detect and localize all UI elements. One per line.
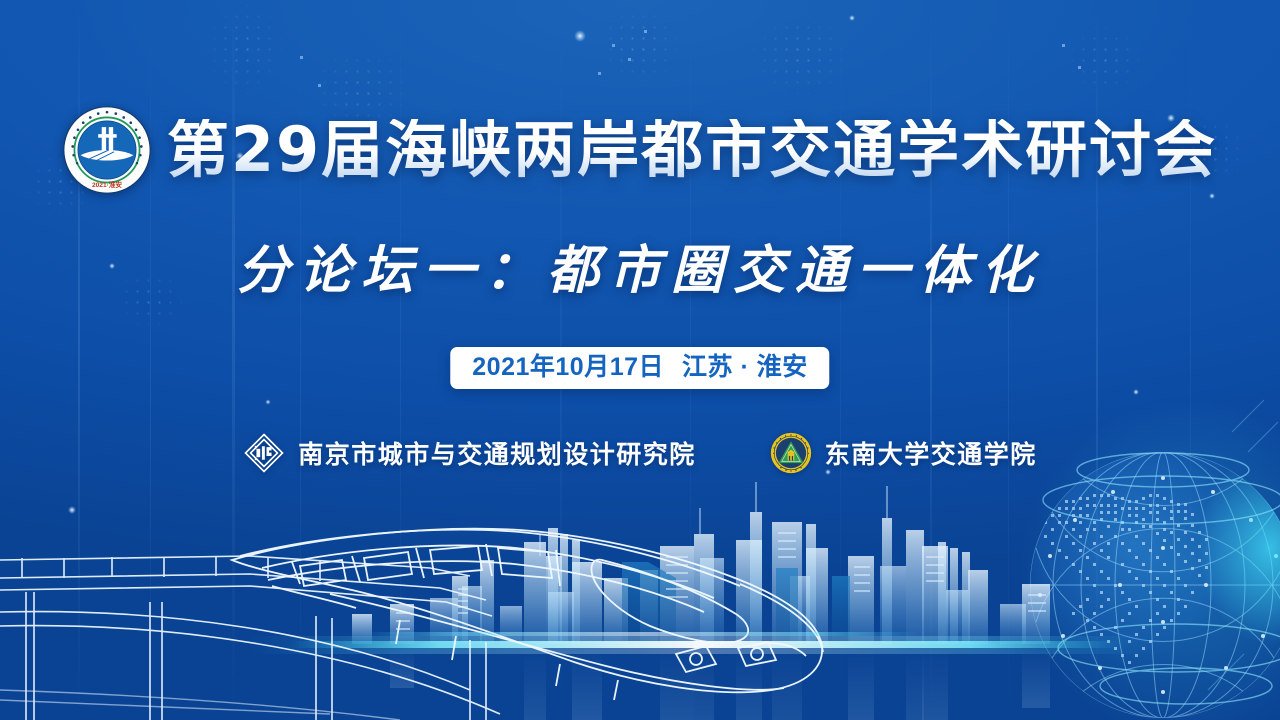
organizer-seu: 东南大学交通学院 bbox=[770, 432, 1037, 474]
event-date: 2021年10月17日 bbox=[472, 353, 664, 381]
organizer-njupdi: 南京市城市与交通规划设计研究院 bbox=[243, 432, 696, 474]
seu-circular-seal-icon bbox=[770, 432, 812, 474]
emblem-caption: 2021·淮安 bbox=[92, 180, 122, 189]
njupdi-diamond-logo-icon bbox=[243, 432, 285, 474]
forum-subtitle: 分论坛一：都市圈交通一体化 bbox=[0, 228, 1280, 303]
conference-banner: 2021·淮安 第29届海峡两岸都市交通学术研讨会 分论坛一：都市圈交通一体化 … bbox=[0, 0, 1280, 720]
organizer-row: 南京市城市与交通规划设计研究院 bbox=[0, 432, 1280, 474]
title-row: 2021·淮安 第29届海峡两岸都市交通学术研讨会 bbox=[0, 106, 1280, 194]
event-location: 江苏 · 淮安 bbox=[682, 353, 808, 381]
organizer-name: 南京市城市与交通规划设计研究院 bbox=[298, 435, 696, 471]
page-title: 第29届海峡两岸都市交通学术研讨会 bbox=[167, 119, 1217, 181]
conference-seal-icon: 2021·淮安 bbox=[63, 106, 151, 194]
date-location-badge: 2021年10月17日江苏 · 淮安 bbox=[450, 347, 829, 389]
organizer-name: 东南大学交通学院 bbox=[825, 435, 1037, 471]
